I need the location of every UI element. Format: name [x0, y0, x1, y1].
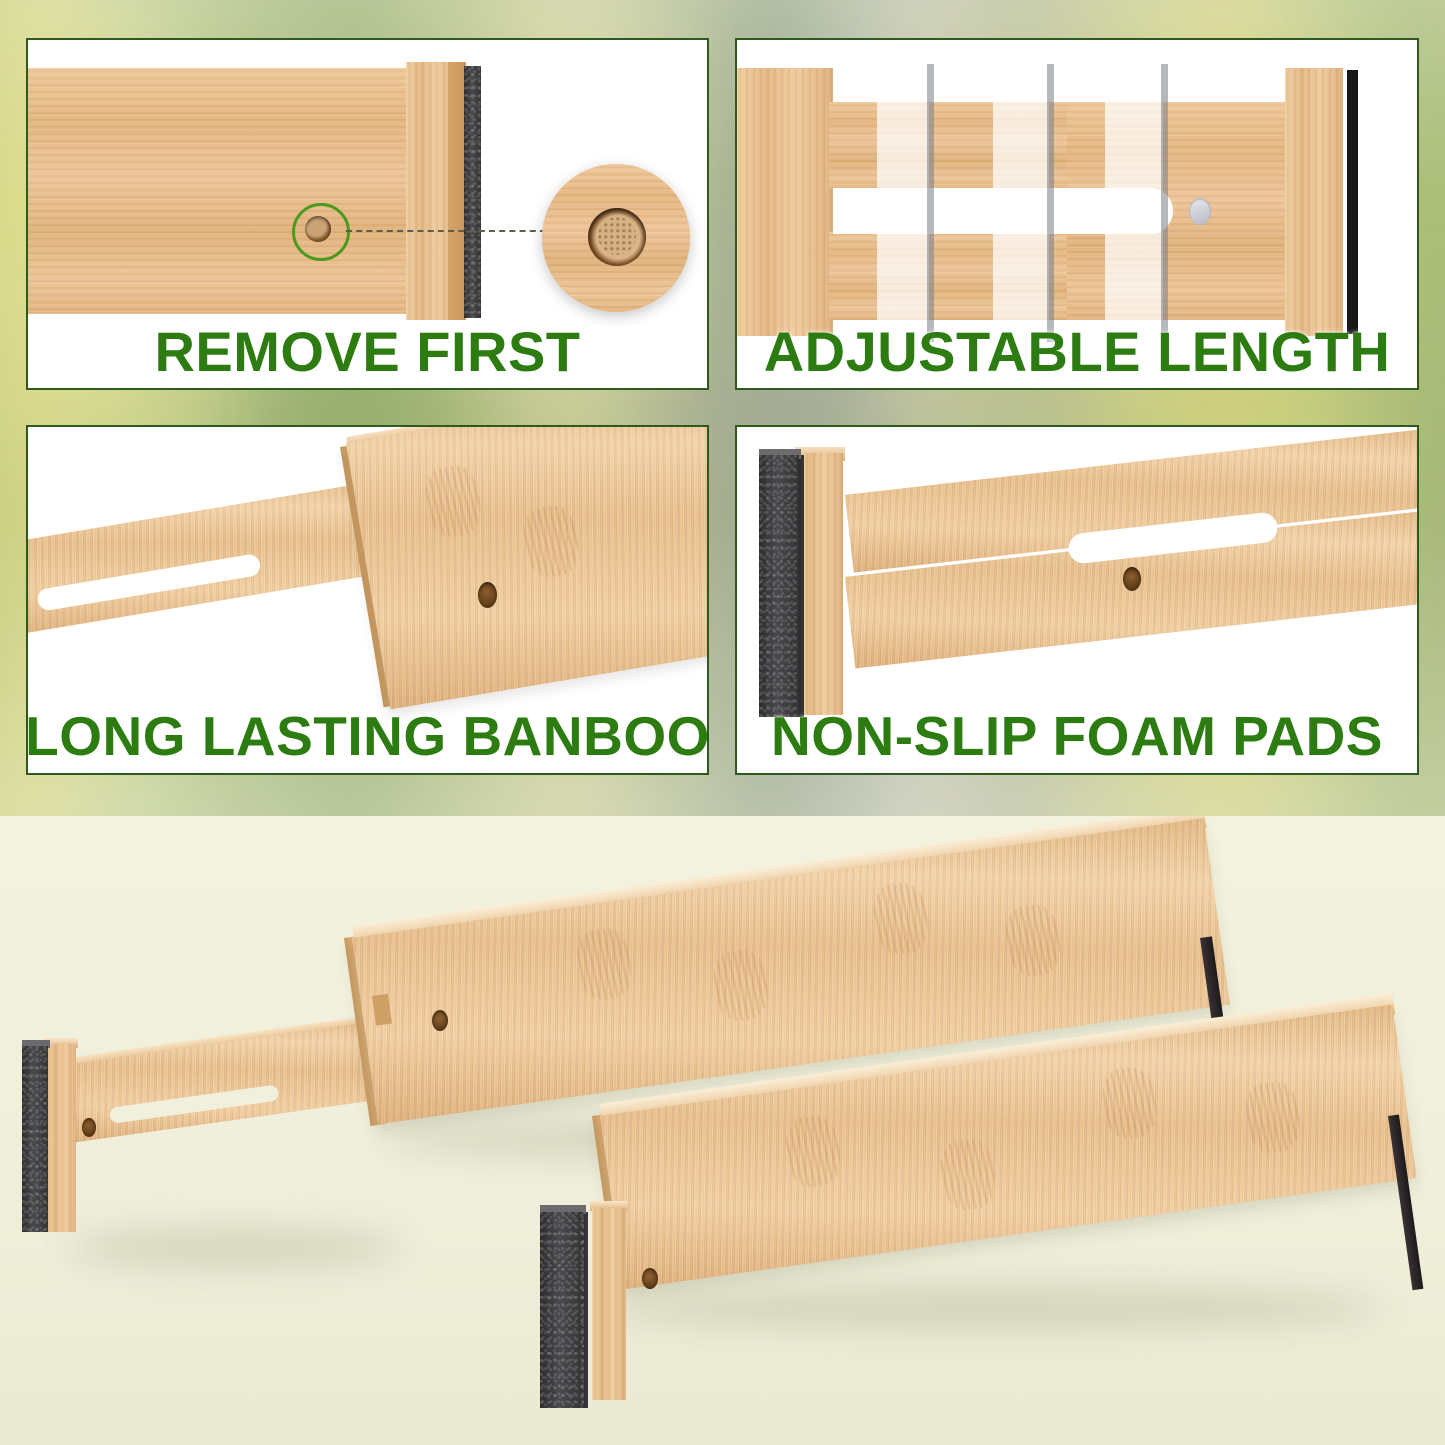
- screw-hole: [82, 1118, 96, 1137]
- feature-label-adjustable-length: ADJUSTABLE LENGTH: [737, 314, 1417, 388]
- screw-hole: [432, 1010, 448, 1031]
- bamboo-left-cap: [737, 68, 833, 336]
- foam-pad: [759, 455, 799, 717]
- feature-label-non-slip-foam-pads: NON-SLIP FOAM PADS: [737, 699, 1417, 773]
- screw-hole: [642, 1268, 658, 1289]
- bamboo-board: [28, 68, 408, 314]
- foam-pad: [1347, 70, 1358, 334]
- feature-panel-adjustable-length: ADJUSTABLE LENGTH: [735, 38, 1419, 390]
- motion-ghost-3: [1105, 64, 1163, 342]
- foam-pad: [22, 1046, 48, 1232]
- callout-dashed-line: [346, 230, 546, 232]
- feature-label-remove-first: REMOVE FIRST: [28, 314, 707, 388]
- bamboo-right-cap: [1285, 68, 1343, 336]
- bamboo-end-cap: [592, 1208, 626, 1400]
- hero-product-photo: [0, 816, 1445, 1445]
- slot-pin: [1189, 198, 1211, 225]
- foam-pad: [464, 66, 481, 318]
- foam-pad: [540, 1212, 584, 1408]
- motion-ghost-1: [877, 64, 929, 342]
- feature-panel-remove-first: REMOVE FIRST: [26, 38, 709, 390]
- bamboo-end-cap: [46, 1044, 76, 1232]
- motion-ghost-line-1: [927, 64, 934, 342]
- screw-hole: [478, 582, 497, 608]
- feature-label-long-lasting-banboo: LONG LASTING BANBOO: [28, 699, 707, 773]
- feature-panel-non-slip-foam-pads: NON-SLIP FOAM PADS: [735, 425, 1419, 775]
- motion-ghost-line-3: [1161, 64, 1168, 342]
- screw-hole: [1123, 567, 1141, 591]
- bamboo-main-body: [346, 425, 709, 709]
- drop-shadow: [70, 1228, 400, 1268]
- product-infographic: REMOVE FIRST ADJUSTABLE LENGTH: [0, 0, 1445, 1445]
- motion-ghost-2: [993, 64, 1049, 342]
- motion-ghost-line-2: [1047, 64, 1054, 342]
- magnified-screw-hole: [588, 208, 646, 266]
- drop-shadow: [600, 1286, 1380, 1330]
- feature-panel-long-lasting-banboo: LONG LASTING BANBOO: [26, 425, 709, 775]
- highlight-circle-icon: [292, 203, 350, 261]
